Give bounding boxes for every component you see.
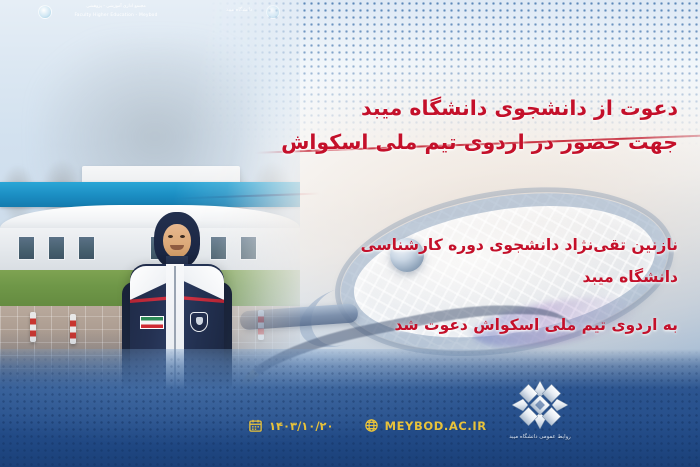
- banner-seal-right: [266, 5, 280, 19]
- photo-window: [78, 236, 95, 260]
- date-group: ۱۴۰۳/۱۰/۲۰: [248, 418, 334, 433]
- headline-line-1: دعوت از دانشجوی دانشگاه میبد: [361, 96, 678, 120]
- eye-left: [168, 235, 173, 238]
- subheadline-line-2: دانشگاه میبد: [583, 268, 678, 286]
- meybod-star-emblem-icon: [509, 378, 571, 432]
- banner-text-left-en: Faculty Higher Education - Meybod: [56, 13, 176, 20]
- subheadline-line-3: به اردوی تیم ملی اسکواش دعوت شد: [394, 316, 678, 334]
- subheadline-line-1: نازنین تقی‌نژاد دانشجوی دوره کارشناسی: [361, 236, 678, 254]
- iran-flag-patch-icon: [140, 316, 164, 329]
- globe-icon: [364, 418, 379, 433]
- footer-halftone-dots: [0, 349, 700, 467]
- photo-window: [18, 236, 35, 260]
- banner-seal-left: [38, 5, 52, 19]
- eye-right: [180, 235, 185, 238]
- footer-website[interactable]: MEYBOD.AC.IR: [385, 419, 487, 433]
- footer-date: ۱۴۰۳/۱۰/۲۰: [269, 419, 334, 433]
- university-logo: روابط عمومی دانشگاه میبد: [497, 378, 583, 450]
- calendar-icon: [248, 418, 263, 433]
- footer-meta: ۱۴۰۳/۱۰/۲۰ MEYBOD.AC.IR: [248, 418, 487, 433]
- photo-blue-banner: [0, 182, 300, 207]
- face: [163, 224, 191, 258]
- logo-caption: روابط عمومی دانشگاه میبد: [497, 434, 583, 440]
- photo-window: [48, 236, 65, 260]
- photo-window: [240, 236, 257, 260]
- website-group[interactable]: MEYBOD.AC.IR: [364, 418, 487, 433]
- poster-canvas: مجتمع اداری آموزشی - پژوهشی Faculty High…: [0, 0, 700, 467]
- banner-text-right: دانشگاه میبد: [212, 7, 266, 15]
- team-crest-inner: [196, 317, 203, 325]
- headline-line-2: جهت حضور در اردوی تیم ملی اسکواش: [281, 130, 678, 154]
- banner-text-left: مجتمع اداری آموزشی - پژوهشی: [56, 4, 176, 11]
